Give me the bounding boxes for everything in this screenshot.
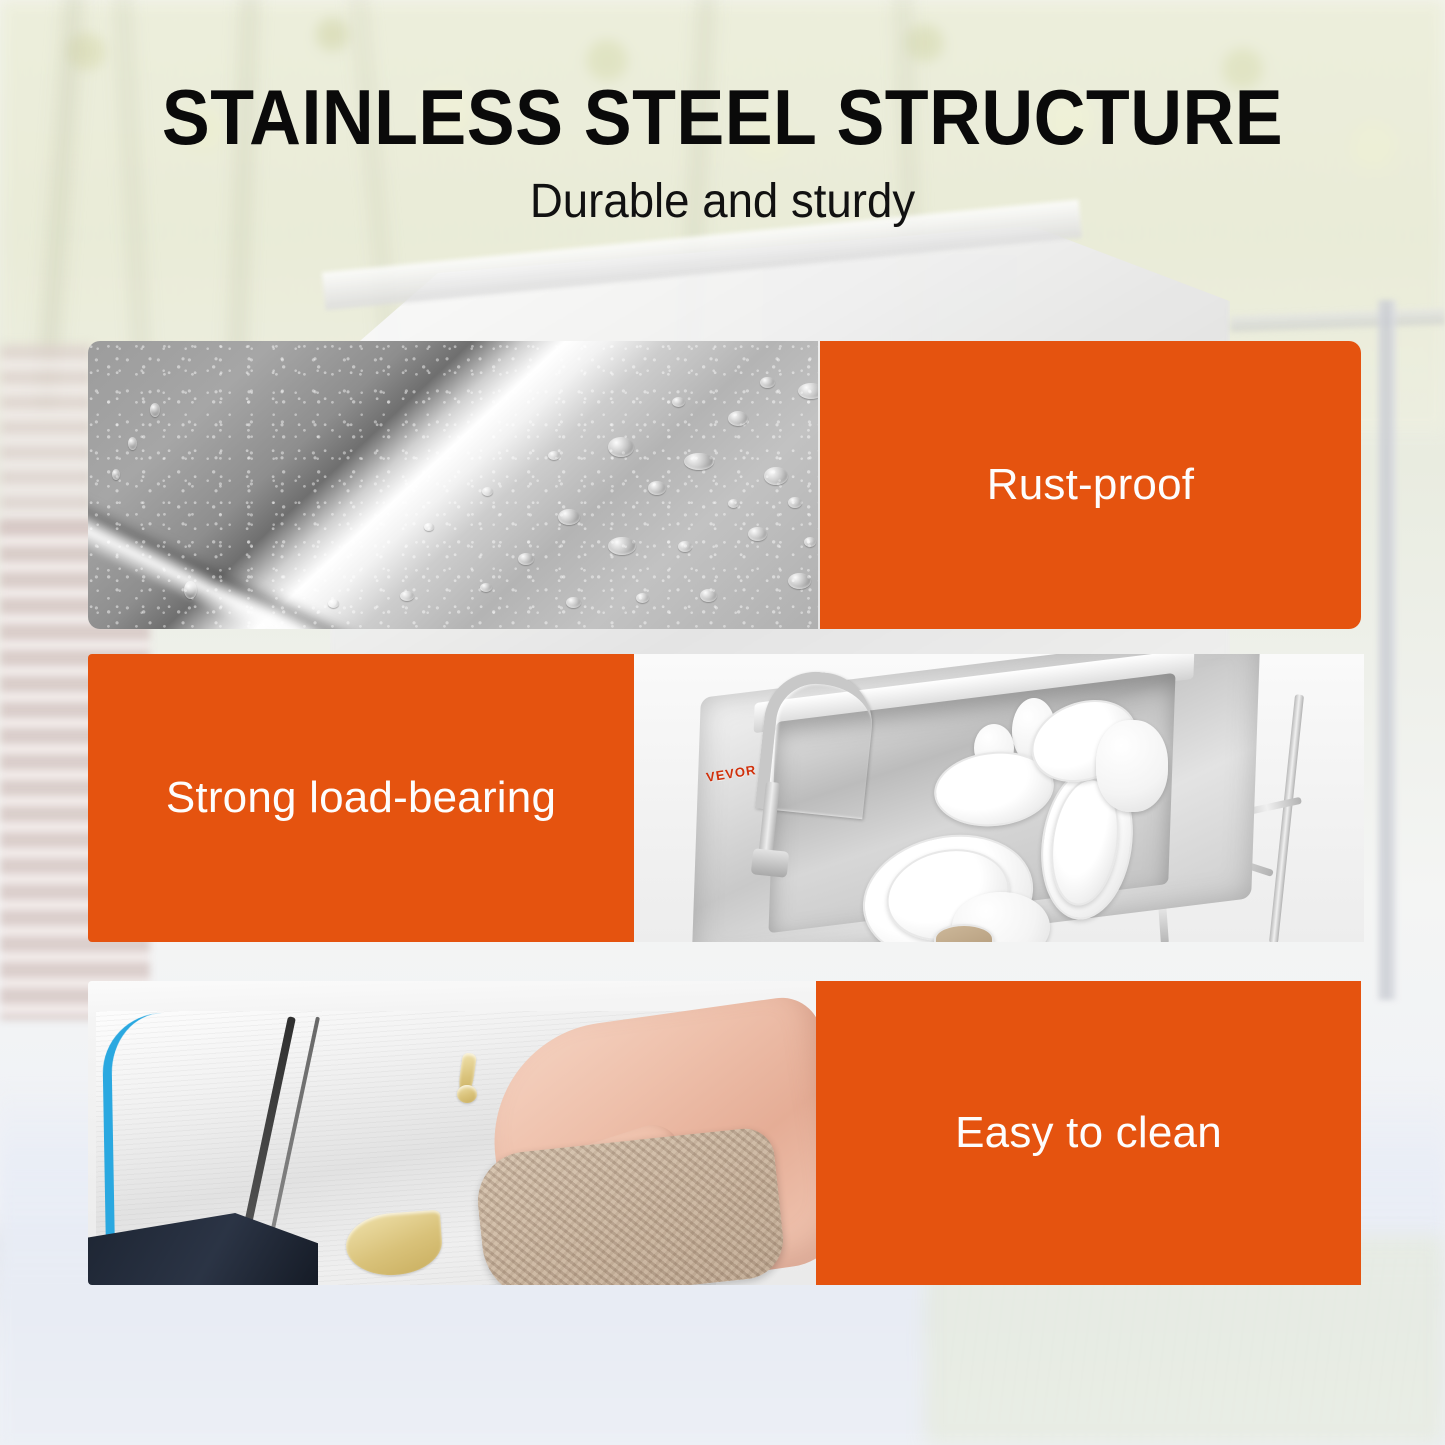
- dish-bowl: [1096, 720, 1168, 812]
- water-droplets: [88, 341, 818, 629]
- feature-photo-strong-load-bearing: VEVOR: [634, 654, 1364, 942]
- feature-photo-easy-to-clean: [88, 981, 818, 1285]
- honey-drip: [457, 1085, 477, 1103]
- heading-block: STAINLESS STEEL STRUCTURE Durable and st…: [0, 0, 1445, 226]
- background-post: [1378, 300, 1396, 1000]
- feature-label-rust-proof[interactable]: Rust-proof: [820, 341, 1361, 629]
- page-title: STAINLESS STEEL STRUCTURE: [58, 0, 1387, 156]
- feature-label-strong-load-bearing[interactable]: Strong load-bearing: [88, 654, 634, 942]
- feature-label-easy-to-clean[interactable]: Easy to clean: [816, 981, 1361, 1285]
- feature-label-text: Strong load-bearing: [88, 773, 634, 823]
- faucet-base: [751, 848, 790, 878]
- feature-photo-rust-proof: [88, 341, 818, 629]
- page-subtitle: Durable and sturdy: [36, 156, 1409, 226]
- product-feature-graphic: STAINLESS STEEL STRUCTURE Durable and st…: [0, 0, 1445, 1445]
- feature-label-text: Easy to clean: [816, 1108, 1361, 1158]
- feature-label-text: Rust-proof: [820, 460, 1361, 510]
- fence-slats-upper: [0, 345, 92, 535]
